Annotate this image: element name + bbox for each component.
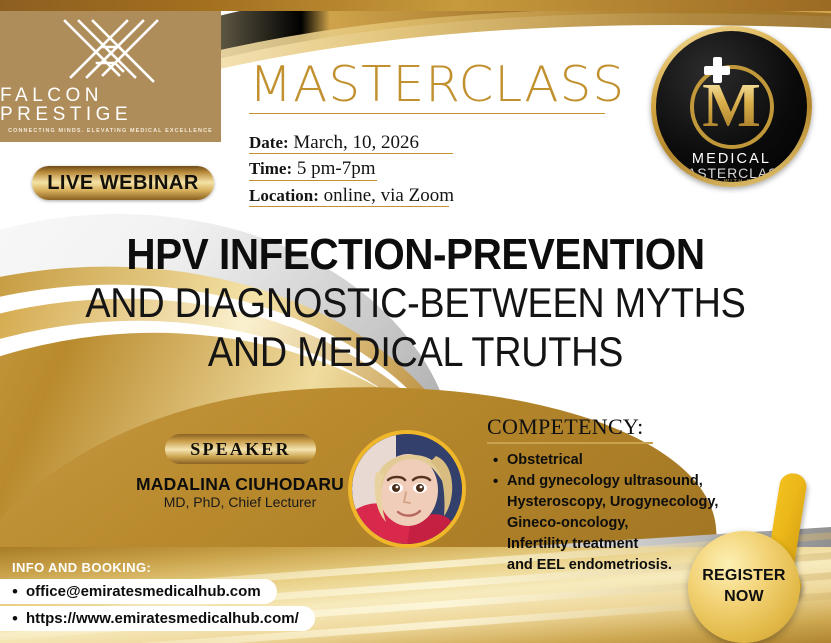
event-time-value: 5 pm-7pm xyxy=(297,158,376,179)
falcon-prestige-logo: FALCON PRESTIGE CONNECTING MINDS. ELEVAT… xyxy=(0,11,221,142)
falcon-mark-icon xyxy=(57,17,165,103)
headline-line-1: HPV INFECTION-PREVENTION xyxy=(33,233,798,278)
event-date-label: Date: xyxy=(249,133,289,152)
contact-website-item[interactable]: https://www.emiratesmedicalhub.com/ xyxy=(0,606,315,631)
event-date-row: Date: March, 10, 2026 xyxy=(249,130,579,155)
medical-cross-icon xyxy=(704,57,730,83)
competency-title: COMPETENCY: xyxy=(487,415,787,439)
event-details: Date: March, 10, 2026 Time: 5 pm-7pm Loc… xyxy=(249,130,579,209)
webinar-flyer: FALCON PRESTIGE CONNECTING MINDS. ELEVAT… xyxy=(0,0,831,643)
speaker-name: MADALINA CIUHODARU xyxy=(128,474,352,495)
speaker-badge: SPEAKER xyxy=(165,434,316,464)
masterclass-text: MASTERCLASS xyxy=(249,62,618,109)
badge-inner: M MEDICAL MASTERCLASS LEARNING WITH EXPE… xyxy=(656,31,807,182)
event-date-value: March, 10, 2026 xyxy=(293,132,419,153)
medical-masterclass-badge: M MEDICAL MASTERCLASS LEARNING WITH EXPE… xyxy=(651,26,812,187)
speaker-credentials: MD, PhD, Chief Lecturer xyxy=(128,494,352,510)
headline-line-3: AND MEDICAL TRUTHS xyxy=(42,327,790,376)
masterclass-wordmark: MASTERCLASS xyxy=(249,62,611,114)
event-time-row: Time: 5 pm-7pm xyxy=(249,156,579,181)
register-line-1: REGISTER xyxy=(702,566,785,587)
register-now-button[interactable]: REGISTER NOW xyxy=(688,531,800,643)
speaker-avatar xyxy=(348,430,466,548)
contact-email-item[interactable]: office@emiratesmedicalhub.com xyxy=(0,579,277,604)
headline-line-2: AND DIAGNOSTIC-BETWEEN MYTHS xyxy=(42,278,790,327)
top-accent-strip xyxy=(0,0,831,11)
falcon-prestige-tagline: CONNECTING MINDS. ELEVATING MEDICAL EXCE… xyxy=(8,129,213,134)
page-title: HPV INFECTION-PREVENTION AND DIAGNOSTIC-… xyxy=(0,233,831,376)
speaker-badge-label: SPEAKER xyxy=(190,439,290,460)
register-line-2: NOW xyxy=(724,587,764,608)
event-location-row: Location: online, via Zoom xyxy=(249,183,579,208)
contact-website: https://www.emiratesmedicalhub.com/ xyxy=(26,610,299,627)
badge-monogram: M xyxy=(702,75,761,137)
event-location-value: online, via Zoom xyxy=(324,185,454,206)
contact-email: office@emiratesmedicalhub.com xyxy=(26,583,261,600)
live-webinar-label: LIVE WEBINAR xyxy=(47,172,199,195)
event-location-label: Location: xyxy=(249,186,319,205)
event-time-label: Time: xyxy=(249,159,292,178)
competency-underline xyxy=(487,442,653,444)
badge-line-tagline: LEARNING WITH EXPERTS xyxy=(656,179,807,182)
competency-item: Obstetrical xyxy=(507,450,787,471)
info-booking-label: INFO AND BOOKING: xyxy=(12,560,151,575)
speaker-portrait-image xyxy=(352,434,462,544)
live-webinar-badge: LIVE WEBINAR xyxy=(32,166,214,200)
